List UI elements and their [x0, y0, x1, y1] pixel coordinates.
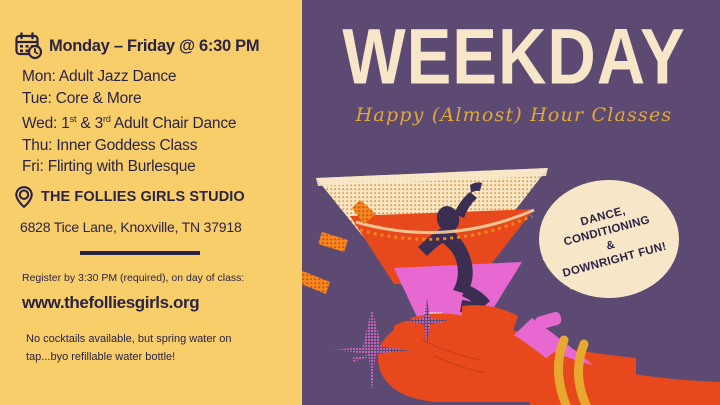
schedule-item-wed: Wed: 1st & 3rd Adult Chair Dance	[22, 109, 300, 135]
studio-name: THE FOLLIES GIRLS STUDIO	[41, 189, 245, 205]
calendar-clock-icon	[14, 31, 44, 61]
section-divider	[80, 251, 200, 255]
registration-url[interactable]: www.thefolliesgirls.org	[22, 293, 199, 313]
studio-address: 6828 Tice Lane, Knoxville, TN 37918	[20, 219, 242, 235]
registration-note: Register by 3:30 PM (required), on day o…	[22, 272, 244, 284]
action-dash-3	[302, 270, 330, 294]
hero-panel: WEEKDAY Happy (Almost) Hour Classes	[302, 0, 720, 405]
fineprint-line-2: tap...byo refillable water bottle!	[26, 348, 288, 366]
studio-name-row: THE FOLLIES GIRLS STUDIO	[12, 185, 245, 209]
schedule-item-mon: Mon: Adult Jazz Dance	[22, 66, 300, 88]
schedule-heading-row: Monday – Friday @ 6:30 PM	[14, 31, 259, 61]
schedule-item-thu: Thu: Inner Goddess Class	[22, 135, 300, 157]
class-schedule-list: Mon: Adult Jazz Dance Tue: Core & More W…	[22, 66, 300, 178]
schedule-item-fri: Fri: Flirting with Burlesque	[22, 156, 300, 178]
map-pin-icon	[12, 185, 36, 209]
flyer-canvas: Monday – Friday @ 6:30 PM Mon: Adult Jaz…	[0, 0, 720, 405]
action-dash-2	[318, 232, 348, 252]
fineprint: No cocktails available, but spring water…	[26, 330, 288, 366]
schedule-item-tue: Tue: Core & More	[22, 88, 300, 110]
schedule-heading: Monday – Friday @ 6:30 PM	[49, 37, 259, 56]
speech-bubble: DANCE, CONDITIONING & DOWNRIGHT FUN!	[539, 180, 679, 298]
info-panel: Monday – Friday @ 6:30 PM Mon: Adult Jaz…	[0, 0, 302, 405]
fineprint-line-1: No cocktails available, but spring water…	[26, 330, 288, 348]
